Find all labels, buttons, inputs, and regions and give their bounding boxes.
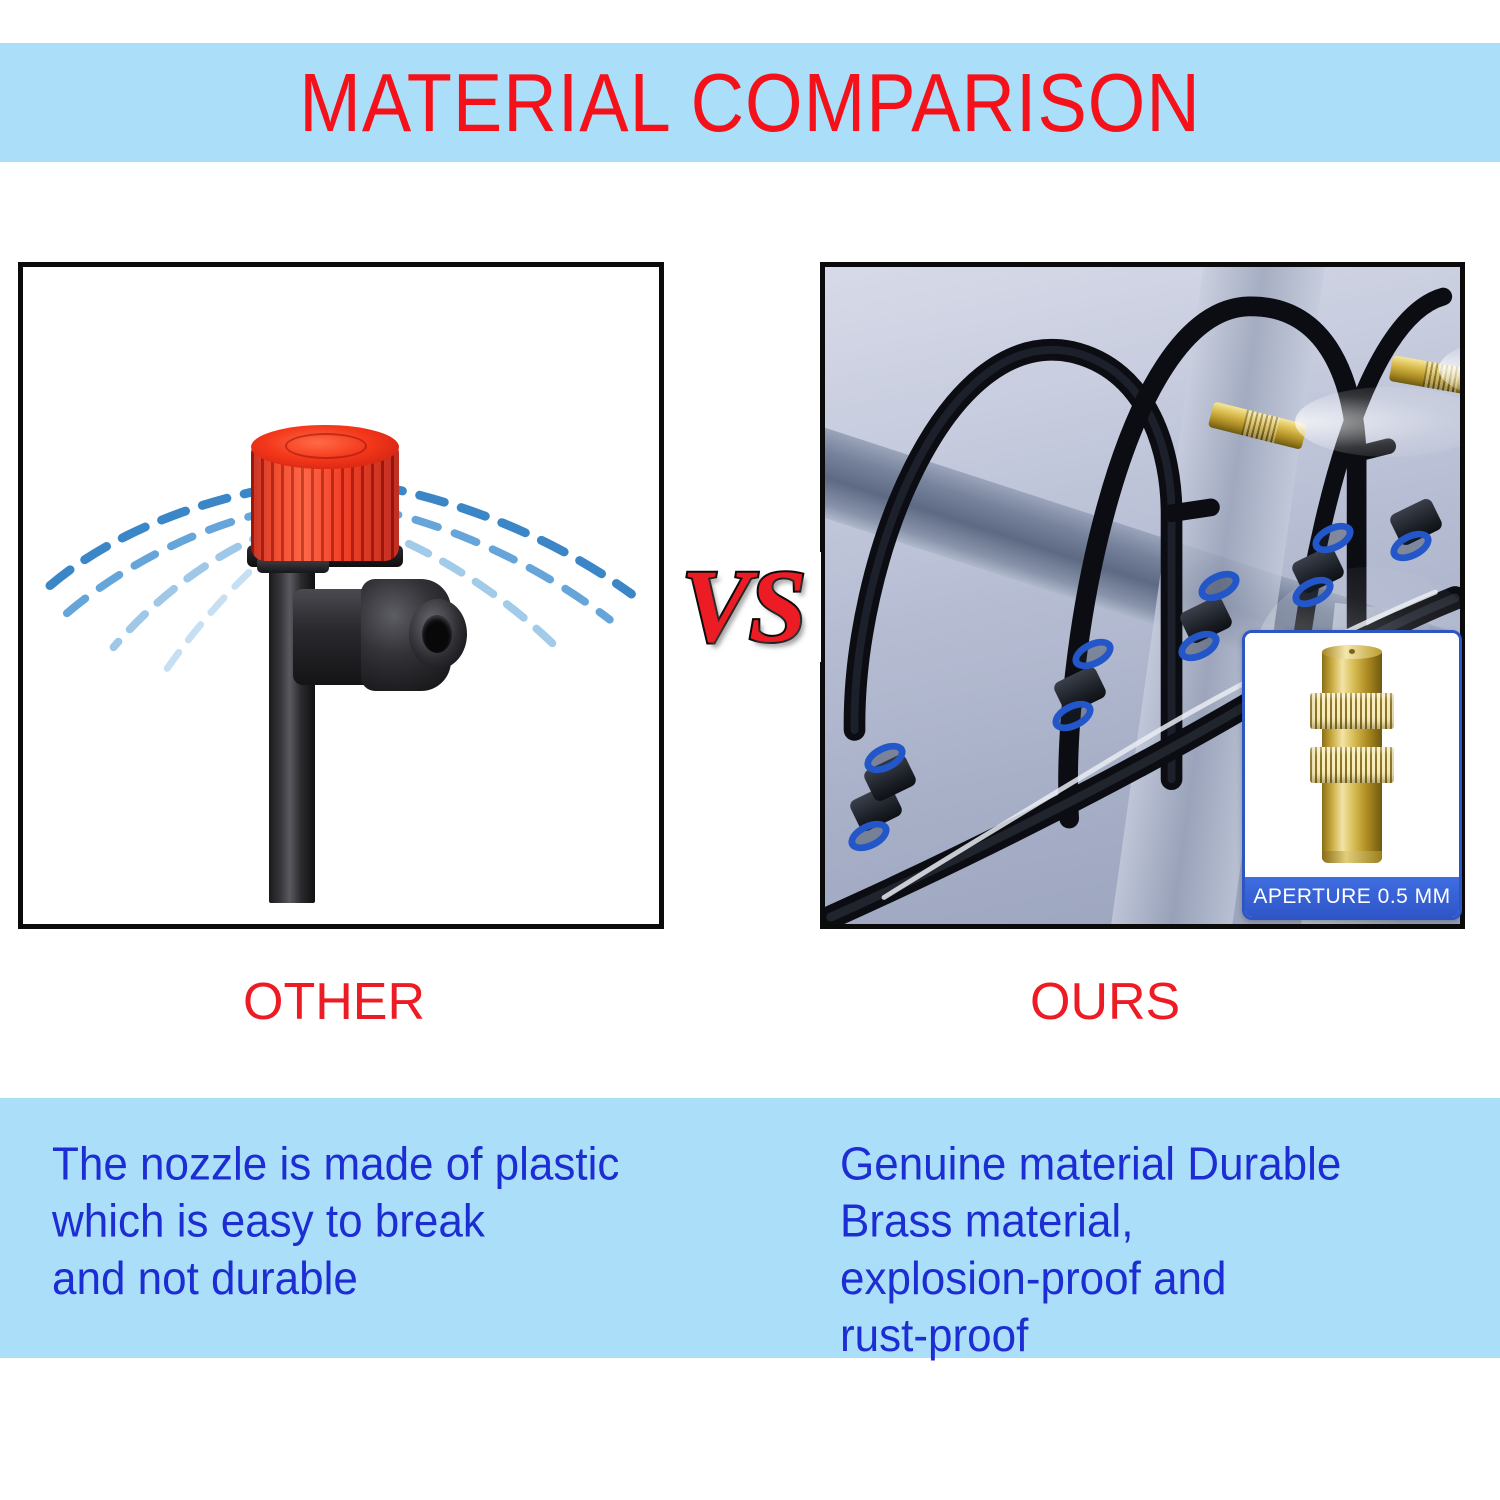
title-banner: MATERIAL COMPARISON (0, 43, 1500, 162)
aperture-badge: APERTURE 0.5 MM (1245, 877, 1459, 917)
description-other: The nozzle is made of plastic which is e… (52, 1136, 752, 1308)
comparison-panel-other (18, 262, 664, 929)
description-ours-line-1: Genuine material Durable (840, 1136, 1480, 1193)
description-other-line-3: and not durable (52, 1251, 752, 1308)
brass-nozzle-closeup (1245, 633, 1459, 877)
brass-nozzle-inset-card: APERTURE 0.5 MM (1242, 630, 1462, 920)
page-title: MATERIAL COMPARISON (299, 61, 1201, 144)
nozzle-port-inner (422, 615, 452, 653)
description-ours-line-2: Brass material, (840, 1193, 1480, 1250)
description-ours: Genuine material Durable Brass material,… (840, 1136, 1480, 1365)
brass-bottom-face (1322, 851, 1382, 863)
description-other-line-2: which is easy to break (52, 1193, 752, 1250)
description-other-line-1: The nozzle is made of plastic (52, 1136, 752, 1193)
caption-ours: OURS (1030, 976, 1180, 1028)
aperture-hole-icon (1349, 649, 1355, 654)
brass-knurl-upper (1310, 693, 1394, 729)
description-ours-line-4: rust-proof (840, 1308, 1480, 1365)
description-ours-line-3: explosion-proof and (840, 1251, 1480, 1308)
plastic-nozzle-illustration (23, 267, 659, 924)
brass-knurl-lower (1310, 747, 1394, 783)
aperture-badge-label: APERTURE 0.5 MM (1253, 885, 1450, 909)
nozzle-cap-marking (285, 433, 367, 459)
versus-badge: VS (665, 552, 821, 662)
description-banner: The nozzle is made of plastic which is e… (0, 1098, 1500, 1358)
versus-label: VS (681, 555, 804, 659)
caption-other: OTHER (243, 976, 425, 1028)
